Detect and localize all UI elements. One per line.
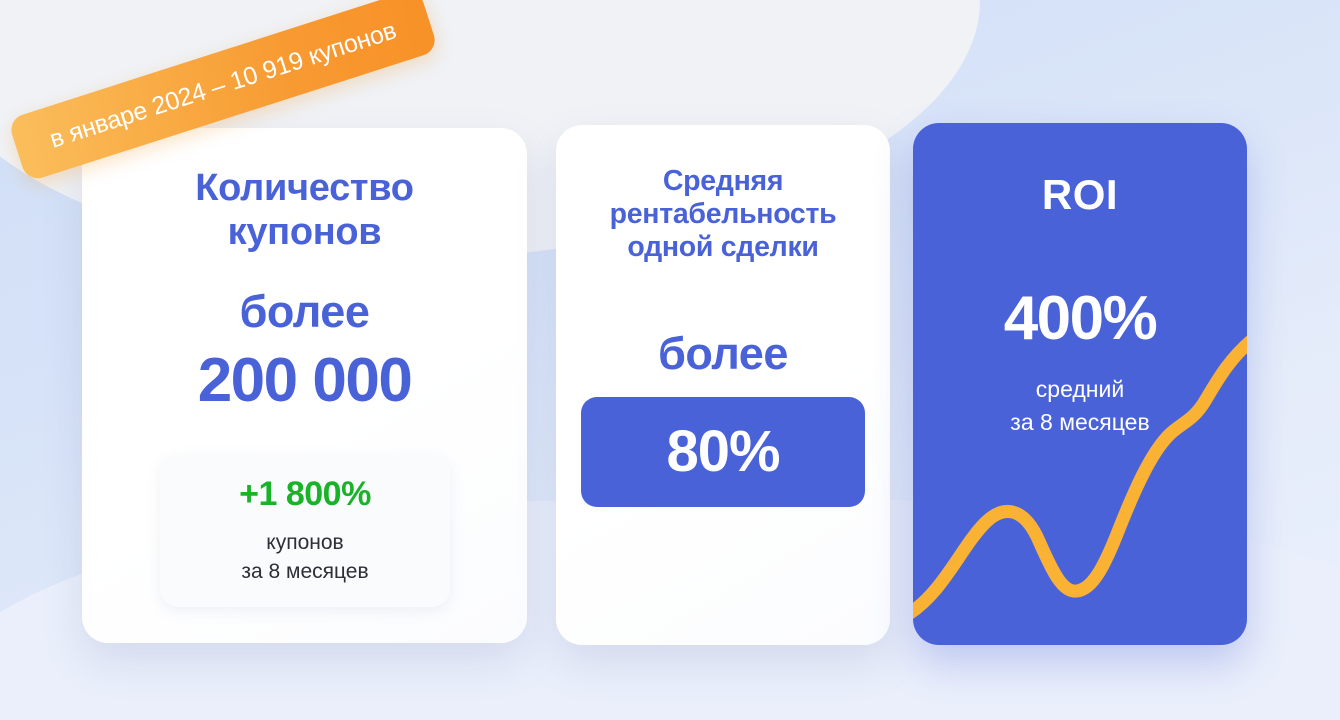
roi-note: средний за 8 месяцев: [913, 373, 1247, 438]
coupons-pre-label: более: [82, 286, 527, 338]
margin-title-line2: рентабельность: [570, 198, 876, 231]
roi-note-line2: за 8 месяцев: [913, 406, 1247, 439]
margin-badge-value: 80%: [666, 423, 779, 481]
coupons-title: Количество купонов: [82, 166, 527, 254]
card-coupons: Количество купонов более 200 000 +1 800%…: [82, 128, 527, 643]
coupons-growth-subcard: +1 800% купонов за 8 месяцев: [160, 455, 450, 607]
margin-title-line3: одной сделки: [570, 231, 876, 264]
coupons-note-line2: за 8 месяцев: [160, 558, 450, 587]
card-margin: Средняя рентабельность одной сделки боле…: [556, 125, 890, 645]
poster-canvas: Количество купонов более 200 000 +1 800%…: [0, 0, 1340, 720]
roi-note-line1: средний: [913, 373, 1247, 406]
coupons-growth-value: +1 800%: [160, 475, 450, 514]
coupons-value: 200 000: [82, 345, 527, 416]
margin-value-badge: 80%: [581, 397, 865, 507]
coupons-growth-note: купонов за 8 месяцев: [160, 529, 450, 587]
margin-title: Средняя рентабельность одной сделки: [570, 165, 876, 264]
coupons-title-line1: Количество: [82, 166, 527, 210]
roi-value: 400%: [913, 283, 1247, 354]
coupons-note-line1: купонов: [160, 529, 450, 558]
margin-pre-label: более: [556, 328, 890, 380]
roi-title: ROI: [913, 171, 1247, 219]
margin-title-line1: Средняя: [570, 165, 876, 198]
card-roi: ROI 400% средний за 8 месяцев: [913, 123, 1247, 645]
coupons-title-line2: купонов: [82, 210, 527, 254]
